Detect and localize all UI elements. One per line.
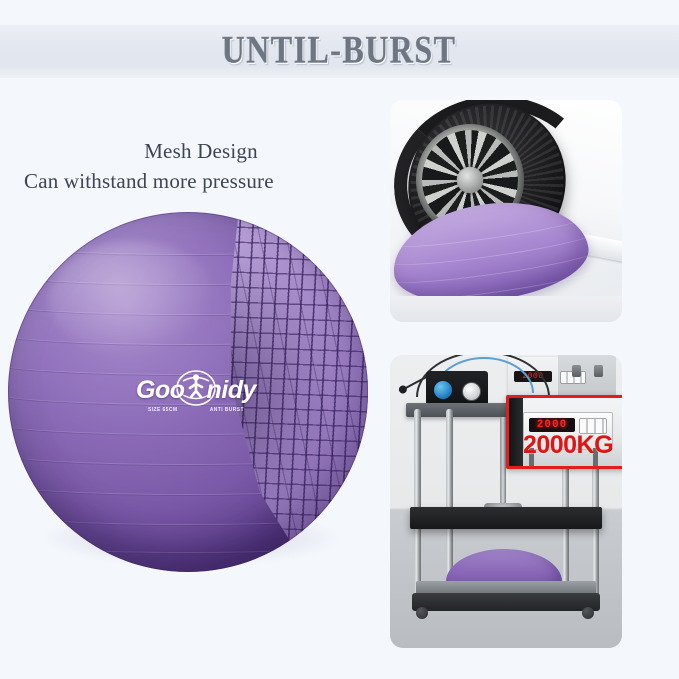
logo-sub-left: SIZE 65CM [148,407,177,413]
controller-dial [434,381,452,399]
machine-knob-1 [572,365,581,377]
brand-logo: Goo nidy SIZE 65CM ANTI BURST [136,368,256,412]
product-image-canvas: UNTIL-BURST Mesh Design Can withstand mo… [0,0,679,679]
brand-logo-subtext: SIZE 65CM ANTI BURST [136,407,256,413]
feature-copy-block: Mesh Design Can withstand more pressure [22,138,372,196]
controller-box [426,371,488,407]
callout-led-display: 2000 [529,418,575,432]
weight-callout: 2000 2000KG [506,395,622,469]
pressure-gauge [462,382,481,401]
feature-subline: Can withstand more pressure [22,168,372,195]
rig-caster [416,607,428,619]
rig-caster [582,607,594,619]
wheel-hub [457,167,483,193]
rig-press-plate [410,507,602,529]
page-title: UNTIL-BURST [222,30,457,74]
callout-led-value: 2000 [537,419,567,431]
rig-post [414,409,421,599]
rig-base [412,593,600,611]
feature-headline: Mesh Design [22,138,372,164]
header-banner: UNTIL-BURST [0,25,679,78]
tire-photo-floor [390,296,622,322]
logo-sub-right: ANTI BURST [210,407,244,413]
brand-logo-text-left: Goo [136,376,185,405]
weight-label: 2000KG [509,431,622,460]
brand-logo-text-right: nidy [207,376,256,405]
machine-knob-2 [594,365,603,377]
photo-tire-on-ball [390,100,622,322]
brand-logo-text: Goo nidy [136,376,256,405]
photo-press-test: 2000 [390,355,622,648]
